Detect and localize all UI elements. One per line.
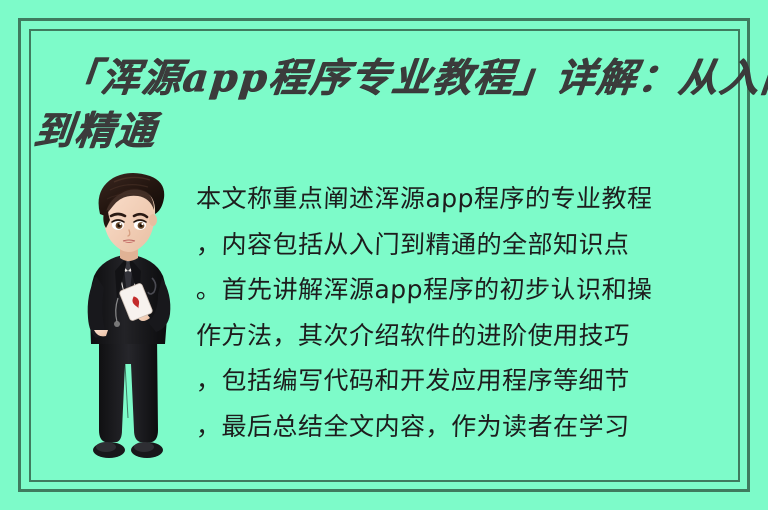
body-line-5: ，包括编写代码和开发应用程序等细节 <box>195 358 745 404</box>
body-line-2: ，内容包括从入门到精通的全部知识点 <box>195 222 745 268</box>
avatar-illustration <box>58 168 200 468</box>
poster-title: 「浑源app程序专业教程」详解：从入门 到精通 <box>34 52 740 158</box>
avatar-trousers <box>99 336 158 442</box>
poster-body-text: 本文称重点阐述浑源app程序的专业教程 ，内容包括从入门到精通的全部知识点 。首… <box>196 176 744 449</box>
title-line-2: 到精通 <box>31 105 743 158</box>
title-line-1: 「浑源app程序专业教程」详解：从入门 <box>31 52 743 105</box>
avatar-head <box>99 173 165 252</box>
body-line-1: 本文称重点阐述浑源app程序的专业教程 <box>195 176 745 222</box>
body-line-4: 作方法，其次介绍软件的进阶使用技巧 <box>195 313 745 359</box>
poster-canvas: 「浑源app程序专业教程」详解：从入门 到精通 本文称重点阐述浑源app程序的专… <box>0 0 768 510</box>
body-line-6: ，最后总结全文内容，作为读者在学习 <box>195 404 745 450</box>
avatar-shoes <box>93 442 163 458</box>
body-line-3: 。首先讲解浑源app程序的初步认识和操 <box>195 267 745 313</box>
